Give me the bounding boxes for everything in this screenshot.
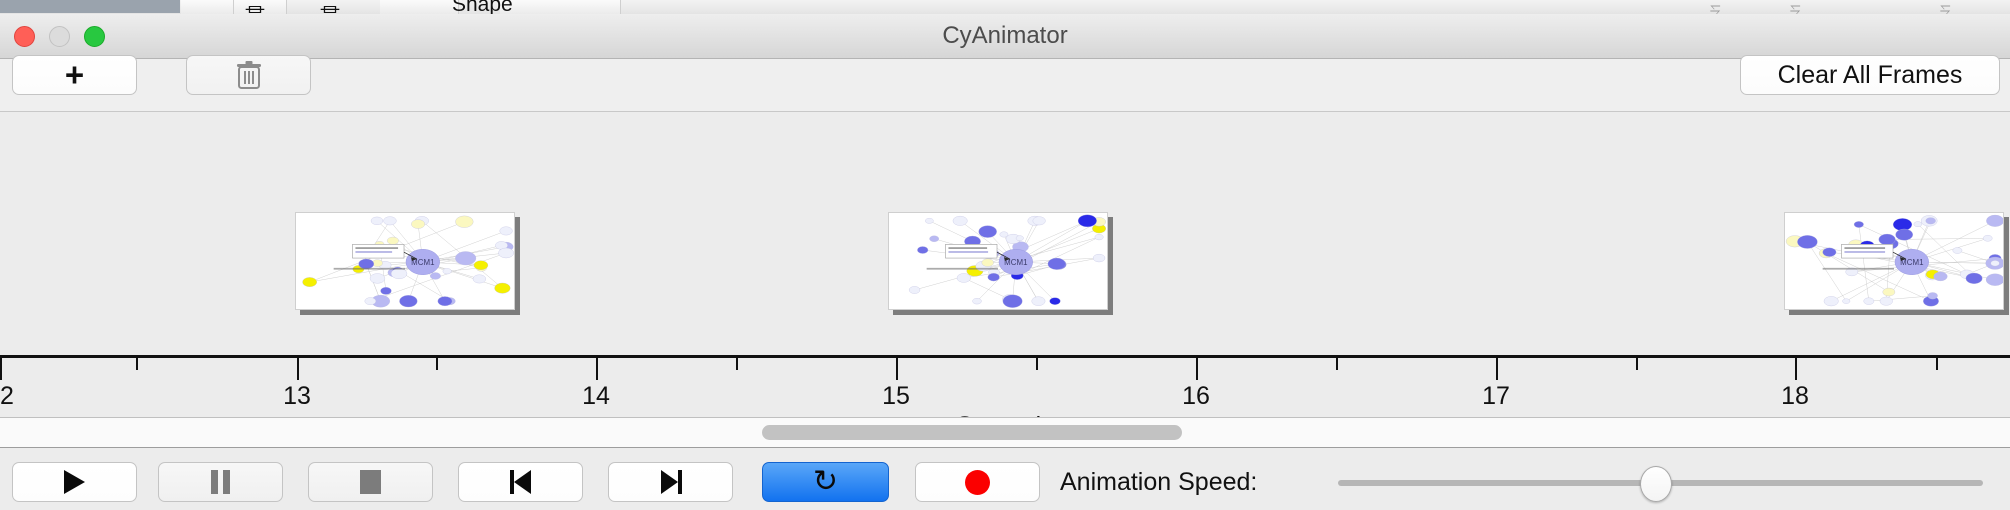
background-arrow-1: ⥧ [1710, 1, 1732, 13]
trash-icon [236, 60, 262, 90]
stop-icon [360, 470, 381, 494]
axis-tick-label: 17 [1482, 382, 1510, 411]
timeline-scrollbar-thumb[interactable] [762, 425, 1182, 440]
skip-back-icon [509, 470, 533, 494]
loop-button[interactable]: ↻ [762, 462, 889, 502]
background-tab-3 [380, 0, 459, 14]
axis-tick-minor [136, 358, 138, 370]
pause-button[interactable] [158, 462, 283, 502]
timeline-pane[interactable]: MCM1MCM1MCM1 12131415161718 Seconds [0, 112, 2010, 418]
axis-tick-major [596, 358, 598, 380]
window-title: CyAnimator [0, 14, 2010, 58]
pause-icon [211, 470, 230, 494]
record-button[interactable] [915, 462, 1040, 502]
background-arrow-3: ⥧ [1940, 1, 1962, 13]
stop-button[interactable] [308, 462, 433, 502]
axis-tick-minor [736, 358, 738, 370]
axis-tick-major [0, 358, 2, 380]
record-icon [965, 470, 990, 495]
background-window-titlebar [0, 0, 180, 13]
axis-tick-label: 15 [882, 382, 910, 411]
axis-tick-label: 13 [283, 382, 311, 411]
axis-tick-label: 14 [582, 382, 610, 411]
background-tab-1 [181, 0, 234, 14]
axis-tick-label: 16 [1182, 382, 1210, 411]
axis-tick-major [1196, 358, 1198, 380]
axis-tick-major [896, 358, 898, 380]
axis-tick-minor [1636, 358, 1638, 370]
axis-tick-minor [1036, 358, 1038, 370]
frame-thumbnail[interactable]: MCM1 [888, 212, 1108, 310]
cyanimator-window: ⏛ ⏛ Shape ⥧ ⥧ ⥧ CyAnimator + Clear All F… [0, 0, 2010, 510]
timeline-axis [0, 355, 2010, 358]
add-frame-button[interactable]: + [12, 55, 137, 95]
frame-thumbnail[interactable]: MCM1 [295, 212, 515, 310]
play-icon [64, 470, 85, 494]
axis-tick-minor [1936, 358, 1938, 370]
skip-to-start-button[interactable] [458, 462, 583, 502]
axis-tick-label: 18 [1781, 382, 1809, 411]
animation-speed-slider-thumb[interactable] [1640, 466, 1672, 502]
axis-tick-minor [1336, 358, 1338, 370]
play-button[interactable] [12, 462, 137, 502]
axis-tick-major [1795, 358, 1797, 380]
frame-thumbnail[interactable]: MCM1 [1784, 212, 2004, 310]
axis-tick-minor [436, 358, 438, 370]
background-tab-4 [500, 0, 621, 14]
skip-to-end-button[interactable] [608, 462, 733, 502]
background-window-strip: ⏛ ⏛ Shape ⥧ ⥧ ⥧ [0, 0, 2010, 15]
loop-icon: ↻ [813, 467, 838, 497]
background-window-label: Shape [452, 0, 513, 15]
axis-tick-label: 12 [0, 382, 14, 411]
skip-forward-icon [659, 470, 683, 494]
axis-tick-major [297, 358, 299, 380]
axis-tick-major [1496, 358, 1498, 380]
animation-speed-label: Animation Speed: [1060, 462, 1257, 502]
clear-all-frames-button[interactable]: Clear All Frames [1740, 55, 2000, 95]
background-arrow-2: ⥧ [1790, 1, 1812, 13]
delete-frame-button[interactable] [186, 55, 311, 95]
